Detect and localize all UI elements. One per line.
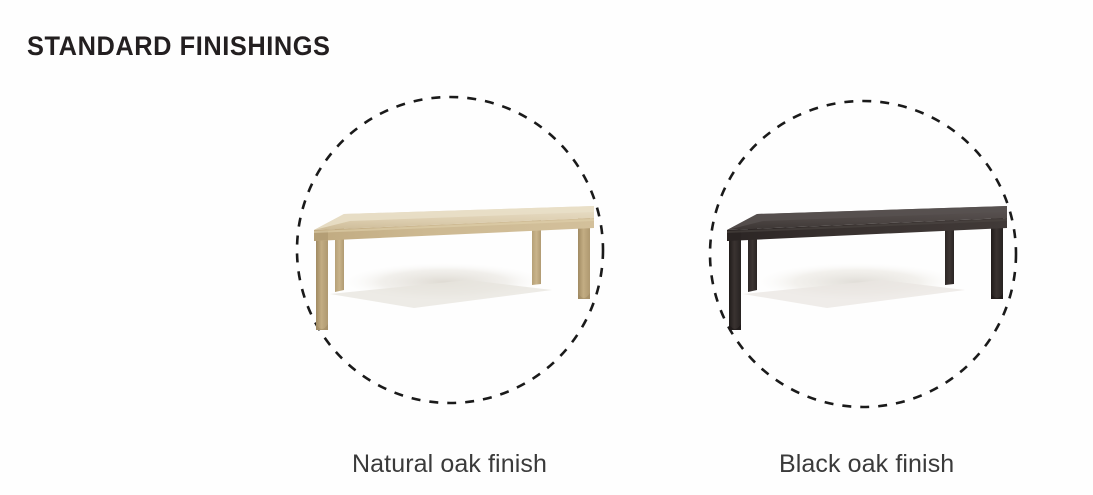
finishings-page: STANDARD FINISHINGS (0, 0, 1093, 495)
page-title: STANDARD FINISHINGS (27, 31, 331, 61)
swatch-caption-natural: Natural oak finish (352, 450, 547, 479)
swatch-natural-oak[interactable] (294, 94, 606, 406)
swatch-black-oak[interactable] (707, 98, 1019, 410)
dining-table-icon (707, 98, 1019, 410)
swatch-caption-black: Black oak finish (779, 450, 954, 479)
dining-table-icon (294, 94, 606, 406)
